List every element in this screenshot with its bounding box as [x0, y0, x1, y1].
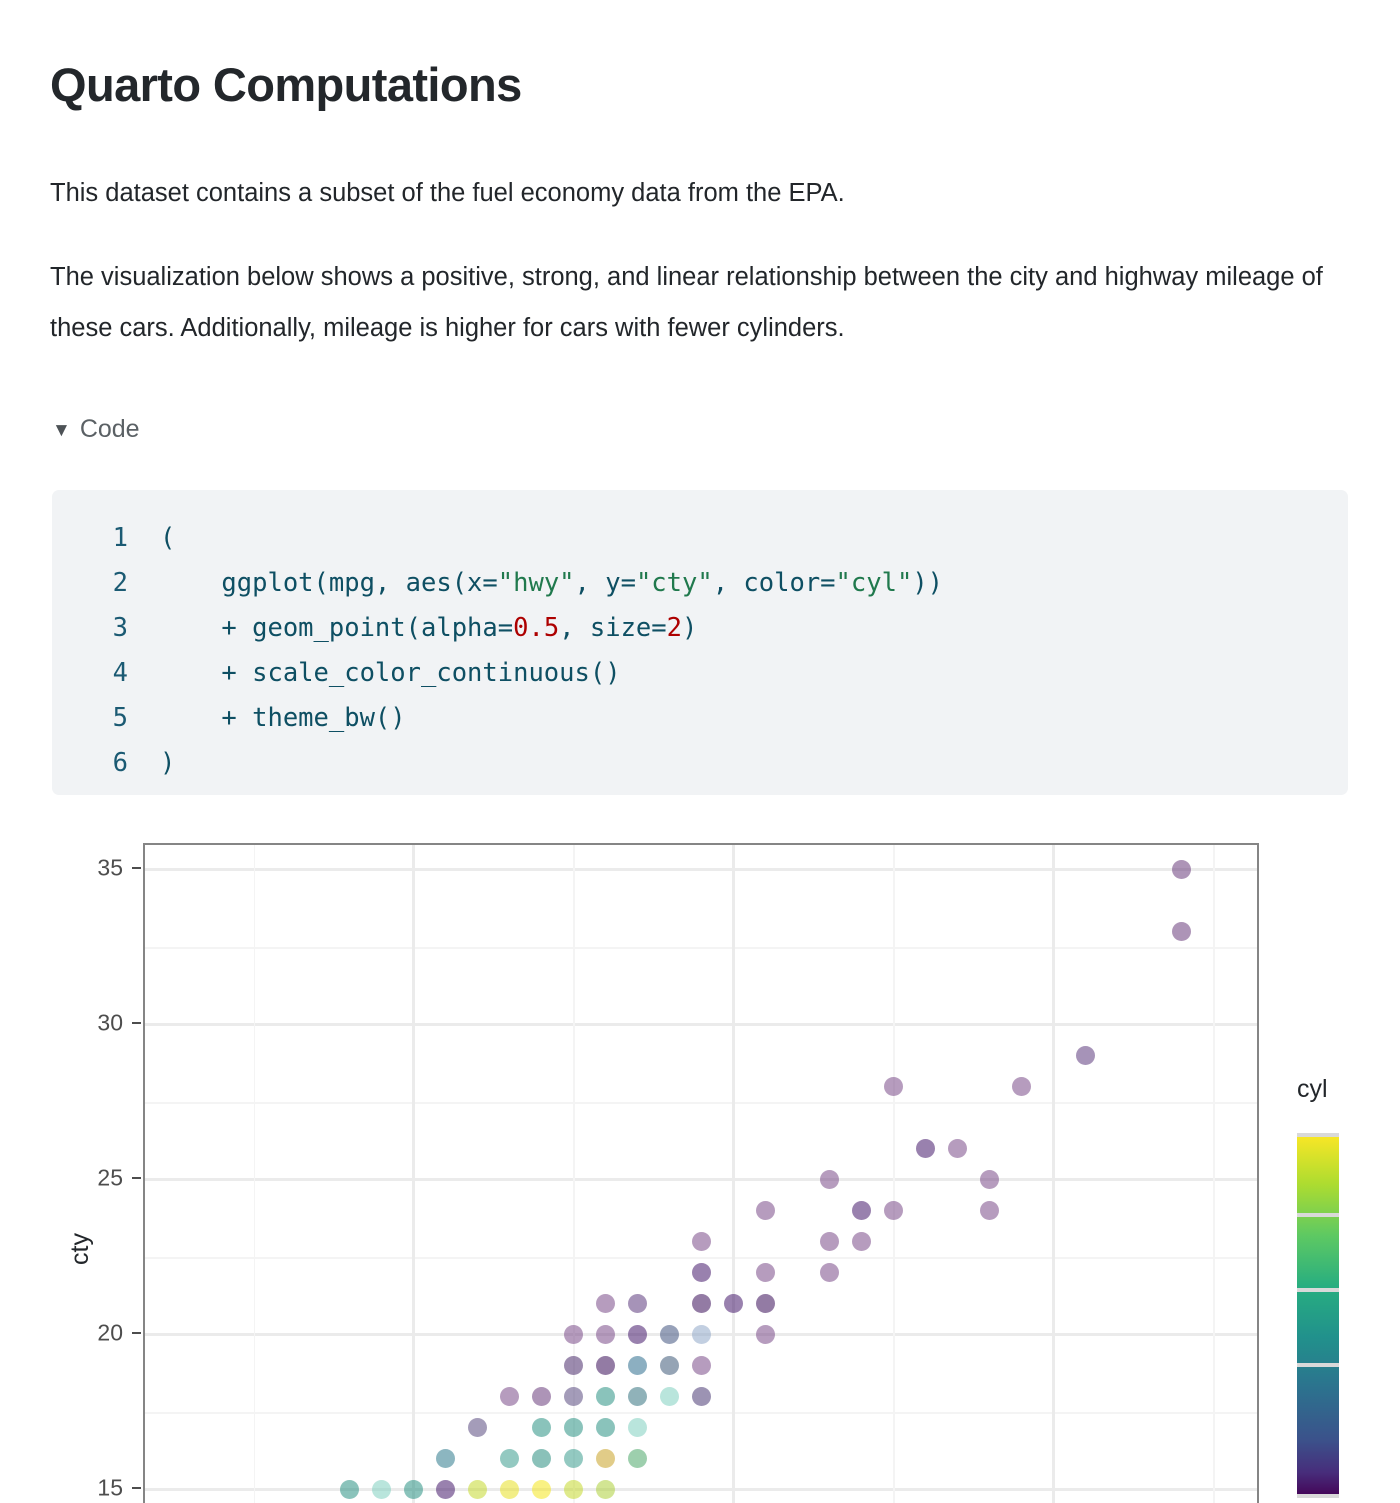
scatter-point	[564, 1387, 583, 1406]
scatter-point	[660, 1387, 679, 1406]
y-axis-tick-mark	[132, 1332, 141, 1335]
code-line: 6)	[52, 741, 1348, 786]
scatter-point	[340, 1480, 359, 1499]
scatter-point	[596, 1294, 615, 1313]
y-axis-tick-mark	[132, 867, 141, 870]
code-token: ggplot(mpg, aes(x=	[160, 568, 498, 598]
y-axis-label: cty	[66, 1233, 95, 1265]
code-token: )	[682, 613, 697, 643]
scatter-point	[980, 1201, 999, 1220]
scatter-point	[884, 1077, 903, 1096]
gridline-minor-horizontal	[145, 947, 1257, 949]
scatter-point	[564, 1449, 583, 1468]
code-line-content: + geom_point(alpha=0.5, size=2)	[128, 606, 697, 651]
scatter-point	[372, 1480, 391, 1499]
gridline-major-horizontal	[145, 1488, 1257, 1491]
scatter-point	[532, 1418, 551, 1437]
code-line-number: 2	[52, 561, 128, 606]
code-token: + scale_color_continuous()	[160, 658, 621, 688]
scatter-point	[660, 1325, 679, 1344]
gridline-minor-vertical	[893, 845, 895, 1503]
code-token: + theme_bw()	[160, 703, 406, 733]
scatter-point	[692, 1356, 711, 1375]
scatter-point	[468, 1418, 487, 1437]
description-paragraph: The visualization below shows a positive…	[50, 252, 1340, 354]
colorbar-tick	[1297, 1133, 1339, 1137]
scatter-point	[756, 1294, 775, 1313]
scatter-point	[596, 1356, 615, 1375]
scatter-plot-figure: 3530252015 cty cyl	[0, 820, 1400, 1500]
code-line-content: )	[128, 741, 175, 786]
scatter-point	[820, 1232, 839, 1251]
colorbar-tick	[1297, 1363, 1339, 1367]
code-line-content: ggplot(mpg, aes(x="hwy", y="cty", color=…	[128, 561, 943, 606]
code-fold-label: Code	[80, 415, 140, 444]
scatter-point	[756, 1325, 775, 1344]
scatter-point	[852, 1201, 871, 1220]
code-line: 4 + scale_color_continuous()	[52, 651, 1348, 696]
scatter-point	[500, 1480, 519, 1499]
code-token: 0.5	[513, 613, 559, 643]
colorbar-tick	[1297, 1213, 1339, 1217]
code-line-content: + scale_color_continuous()	[128, 651, 621, 696]
scatter-point	[756, 1201, 775, 1220]
gridline-minor-vertical	[1213, 845, 1215, 1503]
scatter-point	[596, 1480, 615, 1499]
scatter-point	[724, 1294, 743, 1313]
scatter-point	[628, 1418, 647, 1437]
scatter-point	[692, 1325, 711, 1344]
scatter-point	[596, 1325, 615, 1344]
code-token: , size=	[559, 613, 666, 643]
code-block[interactable]: 1(2 ggplot(mpg, aes(x="hwy", y="cty", co…	[52, 490, 1348, 795]
scatter-point	[884, 1201, 903, 1220]
scatter-point	[628, 1387, 647, 1406]
code-line: 5 + theme_bw()	[52, 696, 1348, 741]
gridline-minor-horizontal	[145, 1257, 1257, 1259]
scatter-point	[692, 1263, 711, 1282]
gridline-minor-vertical	[254, 845, 256, 1503]
code-line-number: 1	[52, 516, 128, 561]
page-title: Quarto Computations	[50, 57, 522, 112]
scatter-point	[436, 1480, 455, 1499]
y-axis-tick-mark	[132, 1022, 141, 1025]
code-line-number: 5	[52, 696, 128, 741]
code-token: , y=	[575, 568, 636, 598]
scatter-point	[852, 1232, 871, 1251]
gridline-major-vertical	[732, 845, 735, 1503]
scatter-point	[692, 1232, 711, 1251]
scatter-point	[756, 1263, 775, 1282]
gridline-major-horizontal	[145, 1178, 1257, 1181]
quarto-document-page: Quarto Computations This dataset contain…	[0, 0, 1400, 1500]
scatter-point	[500, 1449, 519, 1468]
scatter-point	[468, 1480, 487, 1499]
plot-panel	[143, 843, 1259, 1503]
scatter-point	[692, 1294, 711, 1313]
y-axis-tick-mark	[132, 1487, 141, 1490]
code-token: )	[160, 748, 175, 778]
legend-colorbar	[1297, 1133, 1339, 1498]
scatter-point	[500, 1387, 519, 1406]
code-token: , color=	[713, 568, 836, 598]
code-line: 2 ggplot(mpg, aes(x="hwy", y="cty", colo…	[52, 561, 1348, 606]
scatter-point	[820, 1263, 839, 1282]
scatter-point	[692, 1387, 711, 1406]
scatter-point	[564, 1418, 583, 1437]
code-line: 1(	[52, 516, 1348, 561]
gridline-minor-horizontal	[145, 1412, 1257, 1414]
scatter-point	[564, 1356, 583, 1375]
y-axis-tick-label: 20	[53, 1319, 123, 1346]
colorbar-tick	[1297, 1494, 1339, 1498]
scatter-point	[436, 1449, 455, 1468]
scatter-point	[660, 1356, 679, 1375]
scatter-point	[628, 1294, 647, 1313]
gridline-major-horizontal	[145, 1023, 1257, 1026]
code-token: ))	[912, 568, 943, 598]
code-token: 2	[667, 613, 682, 643]
chevron-down-icon: ▼	[52, 421, 71, 440]
scatter-point	[596, 1387, 615, 1406]
y-axis-tick-label: 15	[53, 1474, 123, 1501]
code-token: + geom_point(alpha=	[160, 613, 513, 643]
y-axis-tick-label: 25	[53, 1164, 123, 1191]
scatter-point	[628, 1449, 647, 1468]
code-token: "cyl"	[836, 568, 913, 598]
scatter-point	[916, 1139, 935, 1158]
scatter-point	[1172, 922, 1191, 941]
scatter-point	[980, 1170, 999, 1189]
colorbar-tick	[1297, 1288, 1339, 1292]
scatter-point	[532, 1449, 551, 1468]
code-token: (	[160, 523, 175, 553]
scatter-point	[596, 1418, 615, 1437]
scatter-point	[532, 1387, 551, 1406]
scatter-point	[596, 1449, 615, 1468]
code-line-number: 6	[52, 741, 128, 786]
scatter-point	[820, 1170, 839, 1189]
scatter-point	[628, 1325, 647, 1344]
code-token: "cty"	[636, 568, 713, 598]
y-axis-tick-label: 30	[53, 1009, 123, 1036]
code-line: 3 + geom_point(alpha=0.5, size=2)	[52, 606, 1348, 651]
y-axis-tick-mark	[132, 1177, 141, 1180]
intro-paragraph: This dataset contains a subset of the fu…	[50, 168, 1340, 219]
gridline-minor-horizontal	[145, 1102, 1257, 1104]
legend-title: cyl	[1297, 1075, 1328, 1104]
code-line-number: 3	[52, 606, 128, 651]
code-token: "hwy"	[498, 568, 575, 598]
scatter-point	[948, 1139, 967, 1158]
scatter-point	[564, 1325, 583, 1344]
scatter-point	[1012, 1077, 1031, 1096]
code-line-number: 4	[52, 651, 128, 696]
code-line-content: (	[128, 516, 175, 561]
y-axis-tick-label: 35	[53, 854, 123, 881]
scatter-point	[532, 1480, 551, 1499]
gridline-major-horizontal	[145, 868, 1257, 871]
gridline-major-vertical	[1052, 845, 1055, 1503]
scatter-point	[1076, 1046, 1095, 1065]
scatter-point	[1172, 860, 1191, 879]
code-fold-toggle[interactable]: ▼ Code	[52, 415, 140, 444]
gridline-major-vertical	[412, 845, 415, 1503]
scatter-point	[564, 1480, 583, 1499]
code-line-content: + theme_bw()	[128, 696, 406, 741]
scatter-point	[404, 1480, 423, 1499]
scatter-point	[628, 1356, 647, 1375]
